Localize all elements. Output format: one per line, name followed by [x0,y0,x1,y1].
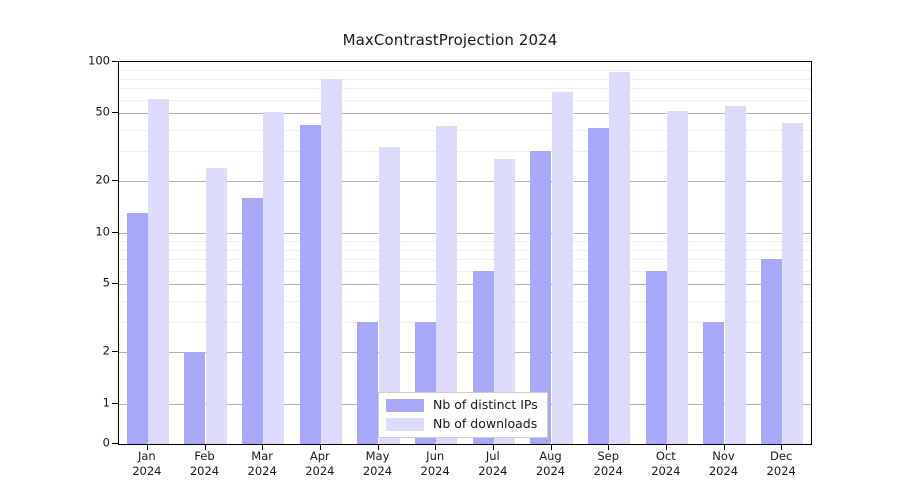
y-axis-tick-mark [112,232,118,233]
legend-swatch-ips [386,399,424,412]
chart-figure: MaxContrastProjection 2024 0125102050100… [0,0,900,500]
x-axis-tick-month: Jul [465,449,521,464]
bar-downloads [667,111,688,444]
chart-title: MaxContrastProjection 2024 [0,31,900,49]
x-axis-tick-month: Oct [638,449,694,464]
x-axis-tick-label: Aug2024 [523,449,579,479]
bar-distinct-ips [300,125,321,444]
y-axis-tick-mark [112,403,118,404]
x-axis-tick-year: 2024 [407,464,463,479]
x-axis-tick-month: Feb [177,449,233,464]
x-axis-tick-month: Aug [523,449,579,464]
y-axis-tick-mark [112,112,118,113]
x-axis-tick-year: 2024 [350,464,406,479]
x-axis-tick-year: 2024 [177,464,233,479]
x-axis-tick-label: Jan2024 [119,449,175,479]
bar-downloads [552,92,573,444]
x-axis-tick-mark [724,445,725,450]
y-axis-tick-mark [112,351,118,352]
bars-layer [119,62,811,444]
y-axis-tick-label: 20 [76,175,110,187]
legend-item-downloads[interactable]: Nb of downloads [386,417,538,432]
x-axis-tick-mark [147,445,148,450]
x-axis-tick-mark [551,445,552,450]
x-axis-tick-month: Sep [580,449,636,464]
legend-swatch-downloads [386,418,424,431]
x-axis-tick-mark [781,445,782,450]
x-axis-tick-label: Jun2024 [407,449,463,479]
legend-label-downloads: Nb of downloads [433,418,537,431]
y-axis-tick-mark [112,443,118,444]
bar-downloads [725,106,746,444]
x-axis-tick-mark [493,445,494,450]
x-axis-tick-label: Mar2024 [234,449,290,479]
chart-legend: Nb of distinct IPs Nb of downloads [378,392,548,438]
x-axis-tick-year: 2024 [638,464,694,479]
x-axis-tick-month: Mar [234,449,290,464]
bar-downloads [148,99,169,444]
bar-distinct-ips [588,128,609,444]
x-axis-tick-mark [320,445,321,450]
x-axis-tick-year: 2024 [234,464,290,479]
bar-distinct-ips [646,271,667,444]
x-axis-tick-mark [378,445,379,450]
x-axis-tick-label: Dec2024 [753,449,809,479]
x-axis-tick-month: Jan [119,449,175,464]
y-axis-tick-label: 10 [76,226,110,238]
y-axis-tick-label: 2 [76,346,110,358]
y-axis-tick-label: 100 [76,55,110,67]
x-axis-tick-mark [262,445,263,450]
y-axis-tick-mark [112,283,118,284]
x-axis-tick-label: Oct2024 [638,449,694,479]
bar-distinct-ips [703,322,724,444]
x-axis-tick-label: Sep2024 [580,449,636,479]
bar-downloads [263,112,284,444]
bar-distinct-ips [184,352,205,444]
x-axis-tick-month: Jun [407,449,463,464]
x-axis-tick-label: Feb2024 [177,449,233,479]
bar-downloads [206,168,227,444]
bar-downloads [782,123,803,444]
x-axis-tick-year: 2024 [696,464,752,479]
bar-distinct-ips [357,322,378,444]
bar-downloads [609,72,630,445]
bar-distinct-ips [761,259,782,444]
x-axis-tick-month: May [350,449,406,464]
legend-label-ips: Nb of distinct IPs [433,399,538,412]
x-axis-tick-mark [435,445,436,450]
y-axis-tick-label: 5 [76,278,110,290]
y-axis-tick-label: 50 [76,107,110,119]
x-axis-tick-label: Apr2024 [292,449,348,479]
x-axis-tick-label: Nov2024 [696,449,752,479]
x-axis-tick-year: 2024 [465,464,521,479]
y-axis-tick-mark [112,180,118,181]
x-axis-tick-year: 2024 [292,464,348,479]
x-axis-tick-month: Dec [753,449,809,464]
x-axis-tick-month: Apr [292,449,348,464]
x-axis-tick-label: May2024 [350,449,406,479]
y-axis-tick-labels: 0125102050100 [72,61,110,445]
x-axis-tick-label: Jul2024 [465,449,521,479]
y-axis-tick-label: 0 [76,437,110,449]
x-axis-tick-year: 2024 [753,464,809,479]
x-axis-tick-mark [205,445,206,450]
y-axis-tick-mark [112,61,118,62]
x-axis-tick-year: 2024 [580,464,636,479]
x-axis-tick-mark [608,445,609,450]
bar-distinct-ips [242,198,263,444]
bar-distinct-ips [127,213,148,444]
bar-downloads [321,79,342,444]
plot-area [118,61,812,445]
x-axis-tick-labels: Jan2024Feb2024Mar2024Apr2024May2024Jun20… [118,449,812,495]
x-axis-tick-mark [666,445,667,450]
x-axis-tick-year: 2024 [119,464,175,479]
legend-item-ips[interactable]: Nb of distinct IPs [386,398,538,413]
x-axis-tick-year: 2024 [523,464,579,479]
x-axis-tick-month: Nov [696,449,752,464]
y-axis-tick-label: 1 [76,397,110,409]
